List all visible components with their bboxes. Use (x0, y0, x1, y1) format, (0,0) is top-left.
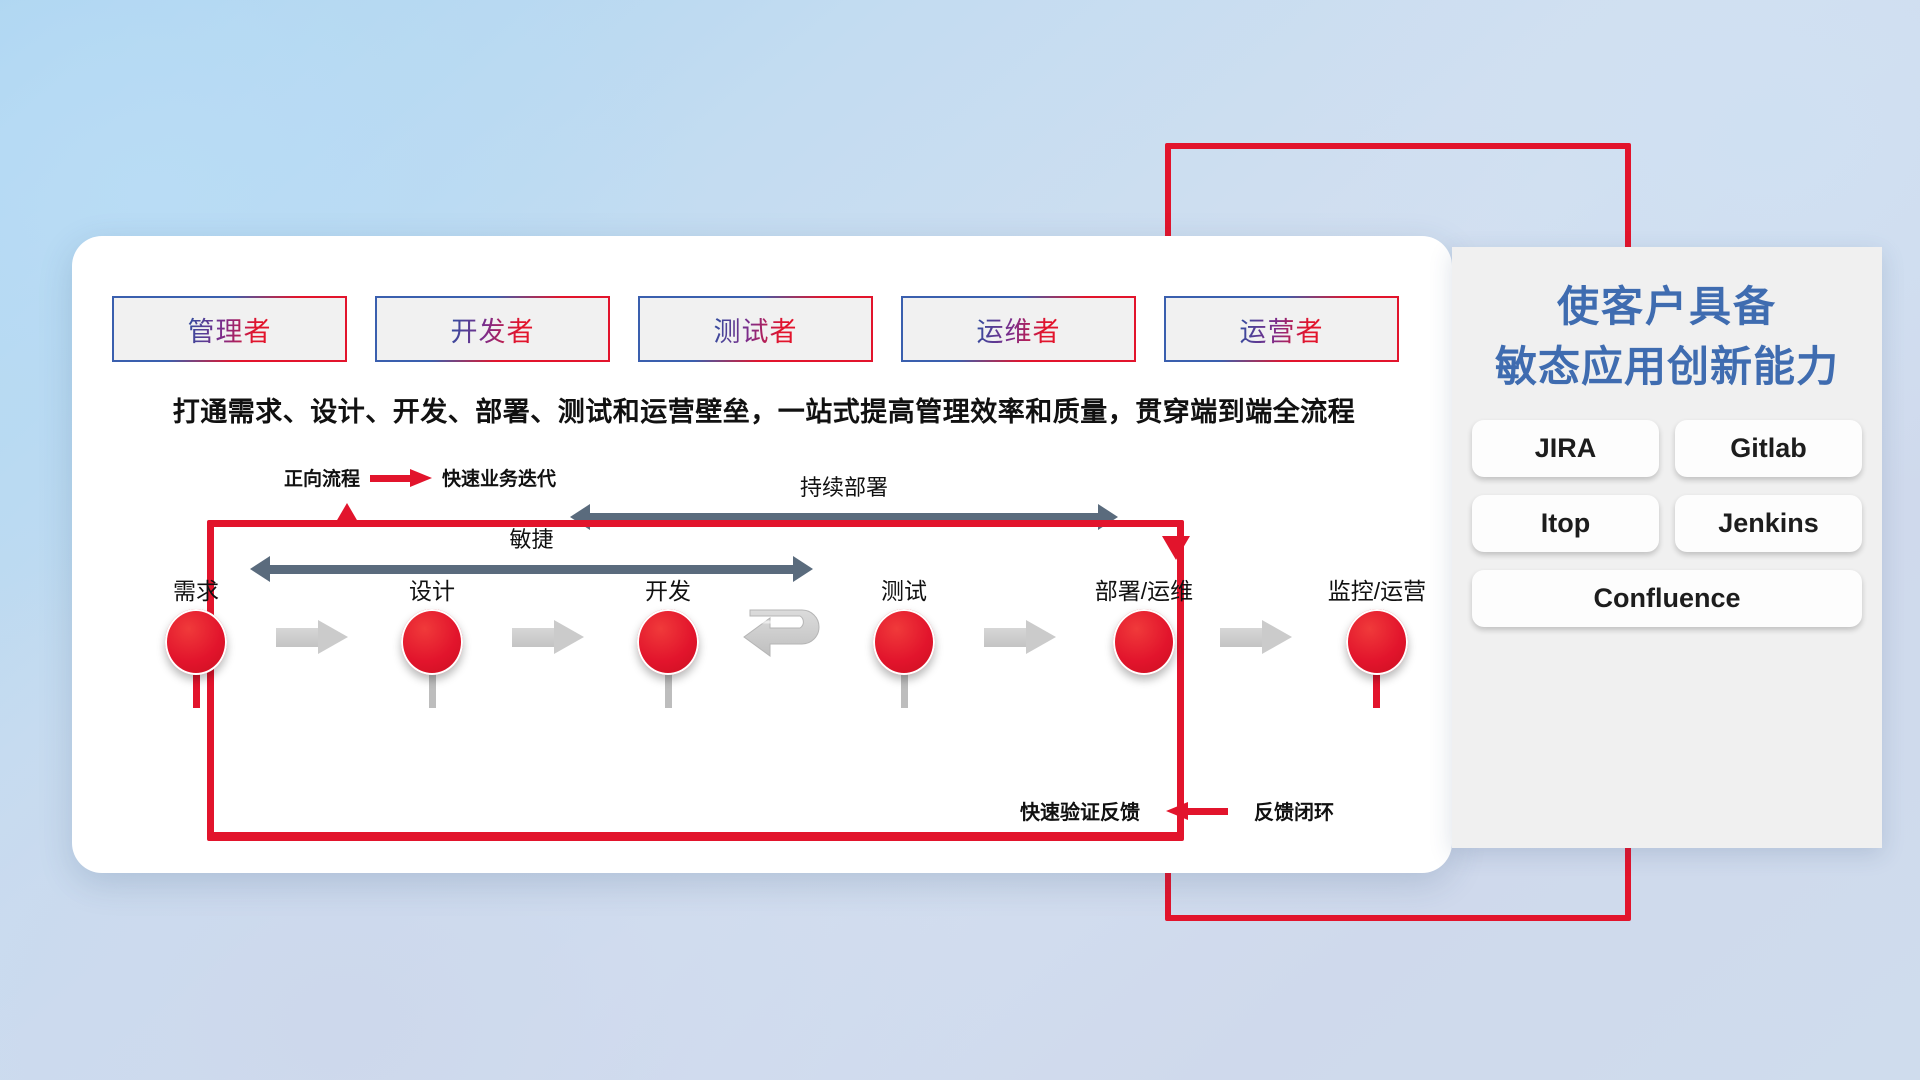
tool-chip-jenkins[interactable]: Jenkins (1675, 495, 1862, 552)
fast-iteration-label: 快速业务迭代 (442, 464, 556, 491)
pipeline-node-label: 设计 (387, 572, 477, 606)
fast-validation-label: 快速验证反馈 (1020, 796, 1140, 825)
pipeline-node-test[interactable]: 测试 (859, 572, 949, 675)
agile-label: 敏捷 (250, 522, 813, 554)
feedback-loop-label: 反馈闭环 (1254, 796, 1334, 825)
tool-chip-label: Confluence (1593, 583, 1740, 614)
loop-arrow-down-icon (1162, 536, 1190, 560)
role-box-group: 管理者 开发者 测试者 运维者 运营者 (112, 296, 1399, 362)
tool-chip-gitlab[interactable]: Gitlab (1675, 420, 1862, 477)
side-panel-title: 使客户具备 敏态应用创新能力 (1452, 277, 1882, 396)
role-label: 运营者 (1240, 310, 1324, 349)
flow-arrow-design-to-development-icon (512, 620, 584, 654)
pipeline-node-development[interactable]: 开发 (623, 572, 713, 675)
forward-flow-legend: 正向流程 快速业务迭代 (284, 464, 556, 491)
pipeline-node-dot (873, 609, 935, 675)
tool-chip-group: JIRA Gitlab Itop Jenkins Confluence (1472, 420, 1862, 627)
tool-chip-label: Itop (1541, 508, 1590, 539)
pipeline-node-label: 需求 (151, 572, 241, 606)
role-box-tester[interactable]: 测试者 (638, 296, 873, 362)
main-content-card: 管理者 开发者 测试者 运维者 运营者 打通需求、设计、开发、部署、测试和运营壁… (72, 236, 1452, 873)
pipeline-node-dot (1113, 609, 1175, 675)
pipeline-node-dot (401, 609, 463, 675)
headline-text: 打通需求、设计、开发、部署、测试和运营壁垒，一站式提高管理效率和质量，贯穿端到端… (114, 390, 1414, 429)
pipeline-node-dot (637, 609, 699, 675)
flow-arrow-deploy-to-monitor-icon (1220, 620, 1292, 654)
pipeline-node-monitor-operate[interactable]: 监控/运营 (1307, 572, 1447, 675)
role-box-manager[interactable]: 管理者 (112, 296, 347, 362)
role-box-operations-engineer[interactable]: 运维者 (901, 296, 1136, 362)
arrow-right-red-icon (370, 469, 432, 487)
role-label: 测试者 (714, 310, 798, 349)
pipeline-node-design[interactable]: 设计 (387, 572, 477, 675)
arrow-left-red-icon (1166, 802, 1228, 820)
side-panel-title-line2: 敏态应用创新能力 (1452, 337, 1882, 397)
pipeline-node-dot (1346, 609, 1408, 675)
pipeline-node-label: 监控/运营 (1307, 572, 1447, 606)
role-label: 开发者 (451, 310, 535, 349)
pipeline-node-deploy-ops[interactable]: 部署/运维 (1074, 572, 1214, 675)
flow-arrow-test-to-deploy-icon (984, 620, 1056, 654)
tool-chip-itop[interactable]: Itop (1472, 495, 1659, 552)
role-box-business-operator[interactable]: 运营者 (1164, 296, 1399, 362)
side-panel-title-line1: 使客户具备 (1452, 277, 1882, 337)
forward-flow-label: 正向流程 (284, 464, 360, 491)
role-label: 运维者 (977, 310, 1061, 349)
iteration-loop-icon (740, 604, 836, 674)
tool-chip-jira[interactable]: JIRA (1472, 420, 1659, 477)
tool-chip-label: Gitlab (1730, 433, 1807, 464)
pipeline-node-dot (165, 609, 227, 675)
role-box-developer[interactable]: 开发者 (375, 296, 610, 362)
continuous-deployment-label: 持续部署 (570, 470, 1118, 502)
devops-pipeline: 需求 设计 开发 测试 部署/运维 监控/运营 (112, 572, 1412, 692)
flow-arrow-requirement-to-design-icon (276, 620, 348, 654)
tool-chip-label: Jenkins (1718, 508, 1819, 539)
slide-canvas: 管理者 开发者 测试者 运维者 运营者 打通需求、设计、开发、部署、测试和运营壁… (0, 0, 1920, 1080)
tool-chip-confluence[interactable]: Confluence (1472, 570, 1862, 627)
role-label: 管理者 (188, 310, 272, 349)
pipeline-node-label: 部署/运维 (1074, 572, 1214, 606)
tool-chip-label: JIRA (1535, 433, 1597, 464)
feedback-legend: 快速验证反馈 反馈闭环 (1020, 796, 1334, 825)
pipeline-node-label: 测试 (859, 572, 949, 606)
pipeline-node-label: 开发 (623, 572, 713, 606)
pipeline-node-requirement[interactable]: 需求 (151, 572, 241, 675)
tools-side-panel: 使客户具备 敏态应用创新能力 JIRA Gitlab Itop Jenkins … (1452, 247, 1882, 848)
